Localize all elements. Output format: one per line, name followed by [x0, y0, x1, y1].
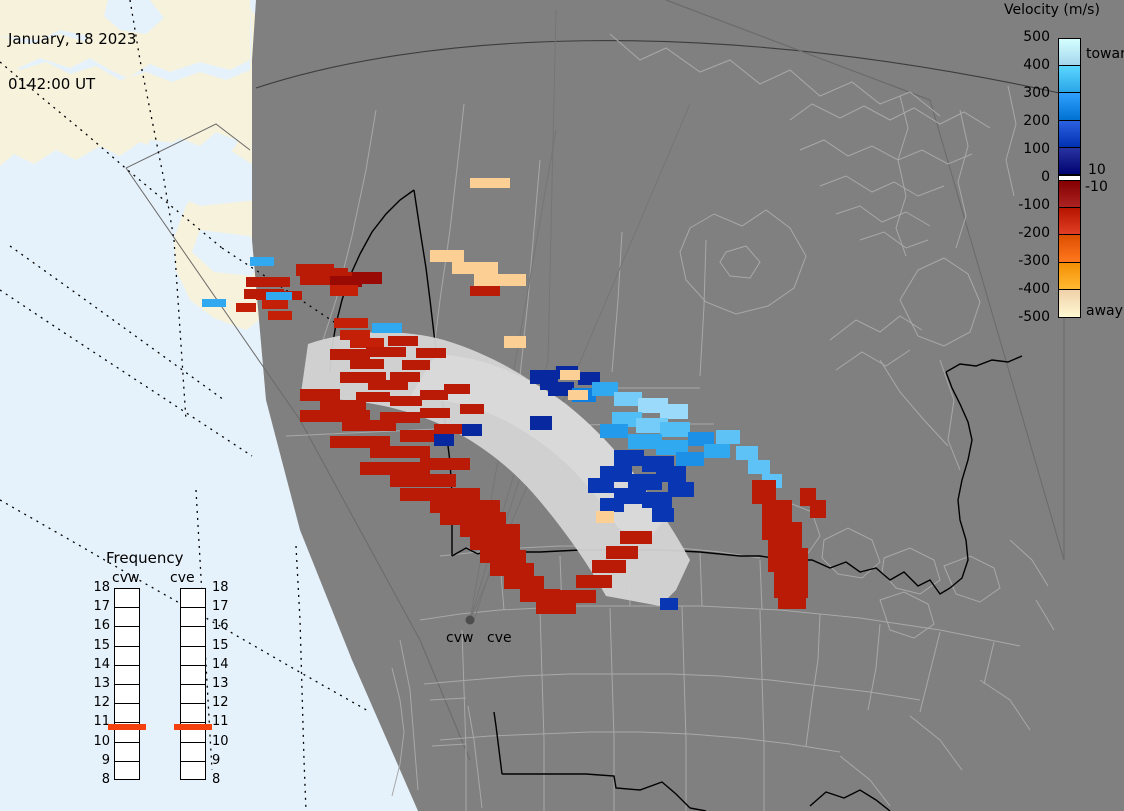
- frequency-cell: [115, 627, 139, 646]
- velocity-cell: [268, 311, 292, 320]
- velocity-band-p300: [1059, 93, 1080, 120]
- velocity-cell: [592, 560, 626, 573]
- velocity-cell: [614, 450, 644, 466]
- velocity-away-label: away: [1086, 303, 1123, 319]
- velocity-cell: [330, 285, 358, 296]
- velocity-toward-label: toward: [1086, 46, 1124, 62]
- velocity-tick-400: 400: [1000, 57, 1050, 73]
- frequency-tick-15: 15: [212, 638, 234, 653]
- velocity-tick-200: 200: [1000, 113, 1050, 129]
- velocity-colorbar: [1058, 38, 1081, 318]
- frequency-column-label-cve: cve: [170, 570, 195, 586]
- velocity-cell: [390, 372, 420, 382]
- frequency-tick-13: 13: [212, 676, 234, 691]
- site-label-cve: cve: [487, 630, 512, 646]
- frequency-tick-9: 9: [212, 753, 234, 768]
- frequency-tick-12: 12: [88, 695, 110, 710]
- frequency-cell: [115, 666, 139, 685]
- site-label-cvw: cvw: [446, 630, 473, 646]
- velocity-cell: [366, 347, 406, 357]
- frequency-tick-17: 17: [88, 599, 110, 614]
- velocity-cell: [748, 460, 770, 474]
- velocity-cell: [652, 508, 674, 522]
- velocity-cell: [568, 390, 588, 400]
- velocity-cell: [596, 511, 614, 523]
- velocity-cell: [246, 277, 290, 287]
- frequency-cell: [181, 666, 205, 685]
- velocity-tick-500: 500: [1000, 29, 1050, 45]
- velocity-tick-300: 300: [1000, 85, 1050, 101]
- frequency-cell: [181, 743, 205, 762]
- frequency-cell: [115, 704, 139, 723]
- frequency-tick-16: 16: [212, 618, 234, 633]
- velocity-inner-negative-label: -10: [1085, 179, 1108, 195]
- velocity-tick--200: -200: [1000, 225, 1050, 241]
- velocity-tick--400: -400: [1000, 281, 1050, 297]
- velocity-band-p200: [1059, 121, 1080, 148]
- velocity-cell: [262, 300, 288, 309]
- velocity-cell: [716, 430, 740, 444]
- velocity-cell: [452, 262, 498, 274]
- velocity-cell: [688, 432, 714, 446]
- frequency-cell: [115, 743, 139, 762]
- velocity-legend-title: Velocity (m/s): [1004, 2, 1100, 18]
- frequency-cell: [115, 589, 139, 608]
- timestamp-block: January, 18 2023 0142:00 UT: [8, 2, 136, 122]
- velocity-cell: [504, 336, 526, 348]
- velocity-cell: [350, 359, 384, 369]
- velocity-cell: [352, 272, 382, 284]
- frequency-tick-8: 8: [212, 772, 234, 787]
- velocity-band-n400: [1059, 263, 1080, 290]
- frequency-cell: [115, 762, 139, 781]
- velocity-band-p500: [1059, 39, 1080, 66]
- velocity-cell: [372, 323, 402, 333]
- velocity-inner-positive-label: 10: [1088, 162, 1106, 178]
- velocity-cell: [388, 336, 418, 346]
- velocity-cell: [334, 318, 368, 328]
- frequency-cell: [181, 685, 205, 704]
- velocity-band-p100: [1059, 148, 1080, 175]
- velocity-cell: [430, 250, 464, 262]
- frequency-cell: [181, 627, 205, 646]
- velocity-tick--300: -300: [1000, 253, 1050, 269]
- velocity-cell: [642, 492, 672, 508]
- velocity-cell-layer: [0, 0, 1124, 811]
- velocity-cell: [440, 512, 506, 525]
- velocity-band-n300: [1059, 235, 1080, 262]
- velocity-cell: [752, 480, 776, 504]
- frequency-tick-10: 10: [88, 734, 110, 749]
- velocity-cell: [390, 396, 422, 406]
- velocity-tick-0: 0: [1000, 169, 1050, 185]
- frequency-tick-14: 14: [212, 657, 234, 672]
- frequency-tick-12: 12: [212, 695, 234, 710]
- velocity-cell: [490, 563, 534, 576]
- velocity-cell: [474, 274, 526, 286]
- velocity-cell: [470, 286, 500, 296]
- velocity-cell: [660, 598, 678, 610]
- velocity-cell: [420, 408, 450, 418]
- frequency-cell: [181, 704, 205, 723]
- frequency-legend-title: Frequency: [106, 549, 184, 567]
- velocity-cell: [236, 303, 256, 312]
- velocity-cell: [416, 348, 446, 358]
- velocity-band-n100: [1059, 181, 1080, 208]
- velocity-cell: [462, 424, 482, 436]
- velocity-cell: [460, 524, 520, 537]
- frequency-scale-cvw: [114, 588, 140, 780]
- velocity-cell: [660, 422, 690, 437]
- velocity-tick--100: -100: [1000, 197, 1050, 213]
- velocity-cell: [704, 444, 730, 458]
- frequency-tick-9: 9: [88, 753, 110, 768]
- velocity-cell: [600, 424, 628, 438]
- frequency-tick-10: 10: [212, 734, 234, 749]
- frequency-cell: [115, 608, 139, 627]
- velocity-cell: [600, 498, 624, 512]
- velocity-cell: [470, 178, 510, 188]
- frequency-tick-18: 18: [88, 580, 110, 595]
- frequency-tick-11: 11: [212, 714, 234, 729]
- frequency-cell: [115, 647, 139, 666]
- velocity-cell: [380, 412, 420, 423]
- frequency-tick-17: 17: [212, 599, 234, 614]
- velocity-cell: [778, 575, 806, 609]
- velocity-cell: [400, 488, 480, 501]
- velocity-cell: [676, 452, 704, 466]
- velocity-cell: [434, 424, 464, 434]
- velocity-cell: [588, 478, 614, 493]
- frequency-cell: [115, 685, 139, 704]
- velocity-tick--500: -500: [1000, 309, 1050, 325]
- frequency-scale-cve: [180, 588, 206, 780]
- velocity-cell: [300, 389, 340, 401]
- frequency-tick-11: 11: [88, 714, 110, 729]
- velocity-cell: [736, 446, 758, 460]
- velocity-cell: [350, 338, 384, 348]
- velocity-cell: [296, 264, 334, 276]
- velocity-band-n200: [1059, 208, 1080, 235]
- frequency-marker-cvw: [108, 724, 146, 730]
- velocity-cell: [660, 404, 688, 419]
- velocity-cell: [250, 257, 274, 266]
- date-label: January, 18 2023: [8, 32, 136, 47]
- frequency-cell: [181, 589, 205, 608]
- velocity-cell: [460, 404, 484, 414]
- velocity-cell: [606, 546, 638, 559]
- radar-map-screenshot: January, 18 2023 0142:00 UT Velocity (m/…: [0, 0, 1124, 811]
- velocity-cell: [202, 299, 226, 307]
- velocity-cell: [402, 360, 430, 370]
- velocity-cell: [614, 392, 642, 406]
- velocity-band-p400: [1059, 66, 1080, 93]
- velocity-cell: [520, 589, 560, 602]
- velocity-cell: [356, 392, 390, 402]
- frequency-tick-14: 14: [88, 657, 110, 672]
- velocity-cell: [444, 384, 470, 394]
- frequency-marker-cve: [174, 724, 212, 730]
- velocity-cell: [370, 446, 430, 458]
- velocity-cell: [668, 482, 694, 497]
- velocity-cell: [620, 531, 652, 544]
- frequency-tick-8: 8: [88, 772, 110, 787]
- velocity-tick-100: 100: [1000, 141, 1050, 157]
- velocity-cell: [556, 590, 596, 603]
- velocity-cell: [330, 349, 370, 360]
- frequency-cell: [181, 647, 205, 666]
- velocity-cell: [530, 416, 552, 430]
- velocity-cell: [360, 462, 430, 475]
- velocity-cell: [390, 474, 456, 487]
- velocity-band-n500: [1059, 290, 1080, 317]
- frequency-tick-13: 13: [88, 676, 110, 691]
- velocity-cell: [576, 575, 612, 588]
- velocity-cell: [430, 500, 500, 513]
- velocity-cell: [266, 292, 292, 300]
- velocity-cell: [810, 500, 826, 518]
- velocity-cell: [420, 458, 470, 470]
- frequency-tick-15: 15: [88, 638, 110, 653]
- velocity-cell: [420, 390, 448, 400]
- velocity-cell: [470, 537, 520, 550]
- frequency-column-label-cvw: cvw: [112, 570, 139, 586]
- velocity-cell: [560, 370, 580, 380]
- frequency-cell: [181, 762, 205, 781]
- frequency-tick-16: 16: [88, 618, 110, 633]
- time-label: 0142:00 UT: [8, 77, 136, 92]
- frequency-tick-18: 18: [212, 580, 234, 595]
- velocity-cell: [434, 434, 454, 446]
- velocity-cell: [656, 466, 686, 482]
- velocity-cell: [504, 576, 544, 589]
- frequency-cell: [181, 608, 205, 627]
- velocity-cell: [540, 378, 558, 390]
- velocity-cell: [480, 550, 526, 563]
